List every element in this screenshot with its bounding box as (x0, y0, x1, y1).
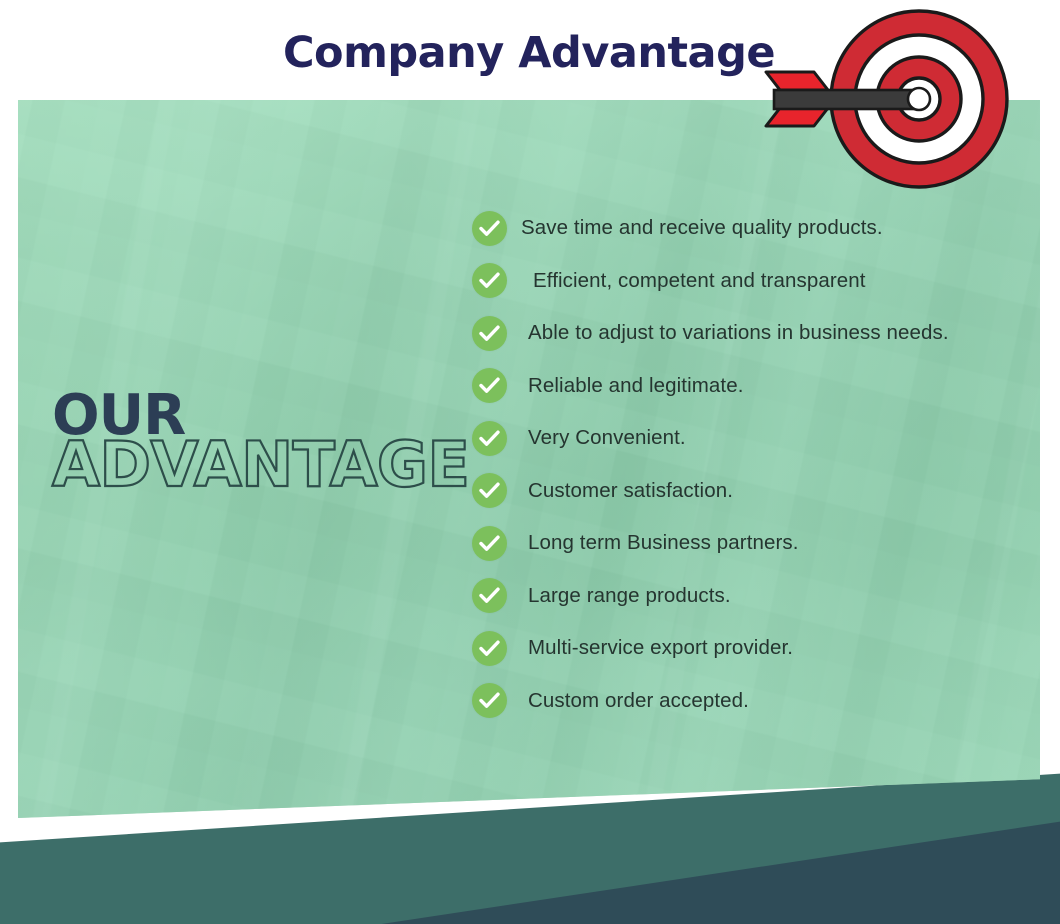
list-item: Reliable and legitimate. (472, 360, 1042, 413)
list-item: Large range products. (472, 570, 1042, 623)
list-item-label: Long term Business partners. (528, 531, 799, 555)
list-item: Customer satisfaction. (472, 465, 1042, 518)
heading-line-advantage: ADVANTAGE (52, 434, 469, 496)
slide-canvas: Company Advantage OUR ADVAN (0, 0, 1060, 924)
list-item-label: Reliable and legitimate. (528, 374, 744, 398)
page-title-text: Company Advantage (283, 28, 775, 78)
check-circle-icon (472, 211, 507, 246)
advantage-list: Save time and receive quality products. … (472, 202, 1042, 727)
check-circle-icon (472, 263, 507, 298)
list-item-label: Customer satisfaction. (528, 479, 733, 503)
list-item: Multi-service export provider. (472, 622, 1042, 675)
list-item-label: Efficient, competent and transparent (533, 269, 866, 293)
list-item-label: Multi-service export provider. (528, 636, 793, 660)
check-circle-icon (472, 631, 507, 666)
list-item-label: Custom order accepted. (528, 689, 749, 713)
list-item-label: Very Convenient. (528, 426, 686, 450)
bullseye-target-with-arrow-icon (756, 4, 1010, 194)
check-circle-icon (472, 578, 507, 613)
list-item-label: Save time and receive quality products. (521, 216, 883, 240)
list-item: Efficient, competent and transparent (472, 255, 1042, 308)
check-circle-icon (472, 316, 507, 351)
our-advantage-heading: OUR ADVANTAGE (52, 388, 469, 496)
list-item: Very Convenient. (472, 412, 1042, 465)
check-circle-icon (472, 368, 507, 403)
list-item-label: Large range products. (528, 584, 731, 608)
list-item: Save time and receive quality products. (472, 202, 1042, 255)
list-item: Long term Business partners. (472, 517, 1042, 570)
list-item: Custom order accepted. (472, 675, 1042, 728)
list-item: Able to adjust to variations in business… (472, 307, 1042, 360)
check-circle-icon (472, 683, 507, 718)
check-circle-icon (472, 473, 507, 508)
check-circle-icon (472, 526, 507, 561)
list-item-label: Able to adjust to variations in business… (528, 321, 949, 345)
check-circle-icon (472, 421, 507, 456)
